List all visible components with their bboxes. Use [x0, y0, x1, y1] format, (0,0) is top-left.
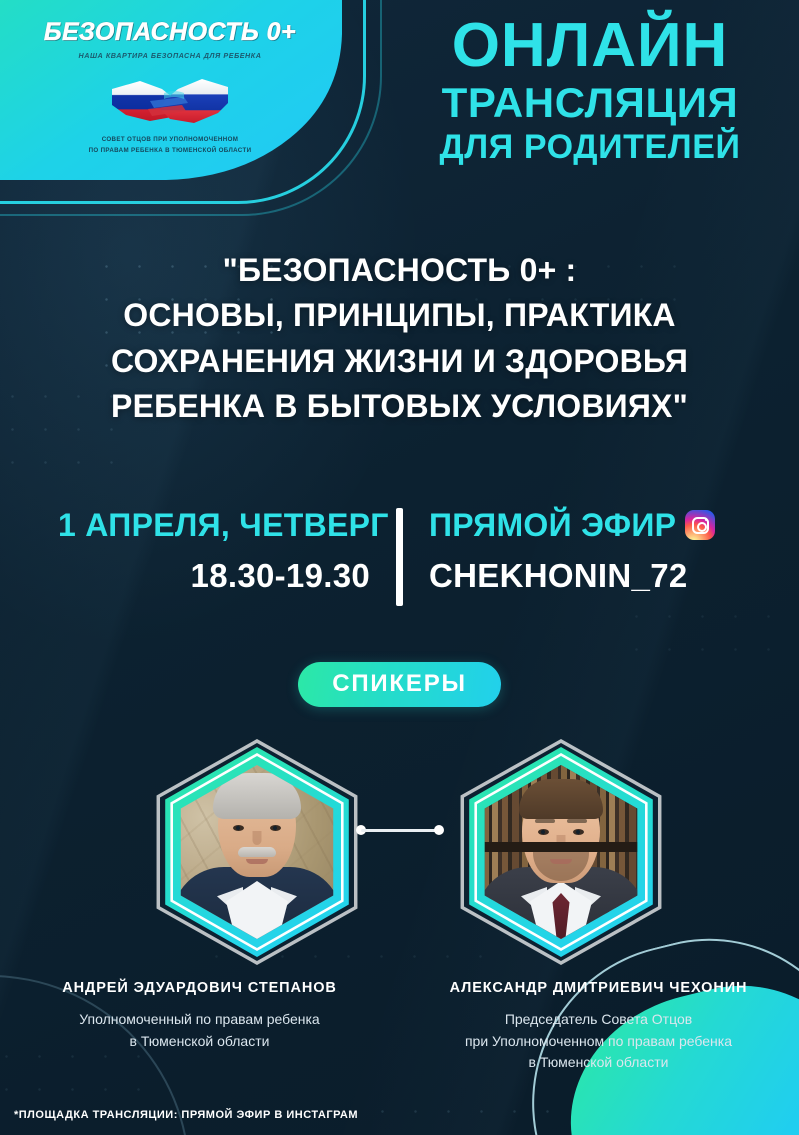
title-line: РЕБЕНКА В БЫТОВЫХ УСЛОВИЯХ"	[0, 384, 799, 429]
speaker-caption-2: АЛЕКСАНДР ДМИТРИЕВИЧ ЧЕХОНИН Председател…	[399, 980, 798, 1074]
speaker-role-line: Уполномоченный по правам ребенка	[18, 1009, 381, 1031]
speaker-role: Уполномоченный по правам ребенка в Тюмен…	[18, 1009, 381, 1052]
portrait-eye-left	[233, 825, 244, 831]
logo-title: БЕЗОПАСНОСТЬ 0+	[44, 18, 296, 47]
event-date: 1 АПРЕЛЯ, ЧЕТВЕРГ	[58, 505, 370, 545]
logo-footer: СОВЕТ ОТЦОВ ПРИ УПОЛНОМОЧЕННОМ ПО ПРАВАМ…	[89, 135, 252, 156]
header-line-for-parents: ДЛЯ РОДИТЕЛЕЙ	[395, 128, 785, 166]
portrait-mustache	[238, 847, 276, 857]
footer-note: *ПЛОЩАДКА ТРАНСЛЯЦИИ: ПРЯМОЙ ЭФИР В ИНСТ…	[14, 1109, 358, 1121]
poster-root: БЕЗОПАСНОСТЬ 0+ НАША КВАРТИРА БЕЗОПАСНА …	[0, 0, 799, 1135]
instagram-camera-glyph	[692, 517, 709, 534]
speaker-role-line: при Уполномоченном по правам ребенка	[417, 1031, 780, 1053]
live-row: ПРЯМОЙ ЭФИР	[429, 505, 741, 545]
instagram-icon[interactable]	[685, 510, 715, 540]
vertical-divider	[396, 508, 403, 606]
speakers-connector	[356, 825, 444, 835]
logo-tagline: НАША КВАРТИРА БЕЗОПАСНА ДЛЯ РЕБЕНКА	[78, 51, 261, 60]
handshake-icon	[110, 67, 230, 129]
portrait-eye-left	[538, 829, 549, 835]
connector-dot-right	[434, 825, 444, 835]
event-datetime: 1 АПРЕЛЯ, ЧЕТВЕРГ 18.30-19.30	[58, 505, 396, 596]
speaker-role-line: Председатель Совета Отцов	[417, 1009, 780, 1031]
speaker-name: АНДРЕЙ ЭДУАРДОВИЧ СТЕПАНОВ	[18, 980, 381, 996]
logo-footer-line-1: СОВЕТ ОТЦОВ ПРИ УПОЛНОМОЧЕННОМ	[89, 135, 252, 146]
portrait-brow-left	[535, 819, 555, 823]
speaker-caption-1: АНДРЕЙ ЭДУАРДОВИЧ СТЕПАНОВ Уполномоченны…	[0, 980, 399, 1074]
portrait-hair	[519, 779, 603, 819]
title-line: "БЕЗОПАСНОСТЬ 0+ :	[0, 248, 799, 293]
portrait-brow-right	[567, 819, 587, 823]
header-block: ОНЛАЙН ТРАНСЛЯЦИЯ ДЛЯ РОДИТЕЛЕЙ	[395, 14, 785, 166]
speaker-captions: АНДРЕЙ ЭДУАРДОВИЧ СТЕПАНОВ Уполномоченны…	[0, 980, 799, 1074]
portrait-mouth	[246, 859, 268, 864]
speaker-portrait-1	[139, 733, 377, 971]
speakers-badge: СПИКЕРЫ	[298, 662, 501, 707]
speaker-role-line: в Тюменской области	[18, 1031, 381, 1053]
speaker-portrait-2	[443, 733, 681, 971]
instagram-account[interactable]: CHEKHONIN_72	[429, 555, 741, 596]
speaker-role: Председатель Совета Отцов при Уполномоче…	[417, 1009, 780, 1074]
portrait-beard	[533, 847, 589, 881]
event-channel: ПРЯМОЙ ЭФИР CHEKHONIN_72	[403, 505, 741, 596]
logo-footer-line-2: ПО ПРАВАМ РЕБЕНКА В ТЮМЕНСКОЙ ОБЛАСТИ	[89, 146, 252, 157]
portrait-eye-right	[270, 825, 281, 831]
portrait-mouth	[550, 859, 572, 864]
speaker-role-line: в Тюменской области	[417, 1052, 780, 1074]
logo-block: БЕЗОПАСНОСТЬ 0+ НАША КВАРТИРА БЕЗОПАСНА …	[0, 0, 340, 178]
portrait-nose	[253, 831, 262, 845]
title-line: ОСНОВЫ, ПРИНЦИПЫ, ПРАКТИКА	[0, 293, 799, 338]
portrait-eye-right	[573, 829, 584, 835]
title-line: СОХРАНЕНИЯ ЖИЗНИ И ЗДОРОВЬЯ	[0, 339, 799, 384]
page-title: "БЕЗОПАСНОСТЬ 0+ : ОСНОВЫ, ПРИНЦИПЫ, ПРА…	[0, 248, 799, 430]
speaker-name: АЛЕКСАНДР ДМИТРИЕВИЧ ЧЕХОНИН	[417, 980, 780, 996]
event-info: 1 АПРЕЛЯ, ЧЕТВЕРГ 18.30-19.30 ПРЯМОЙ ЭФИ…	[0, 505, 799, 615]
event-time: 18.30-19.30	[58, 555, 370, 596]
connector-line	[361, 829, 439, 832]
speakers-portraits	[0, 735, 799, 970]
live-label: ПРЯМОЙ ЭФИР	[429, 505, 676, 545]
speakers-badge-wrap: СПИКЕРЫ	[0, 662, 799, 707]
header-line-broadcast: ТРАНСЛЯЦИЯ	[395, 79, 785, 126]
header-line-online: ОНЛАЙН	[395, 14, 785, 77]
